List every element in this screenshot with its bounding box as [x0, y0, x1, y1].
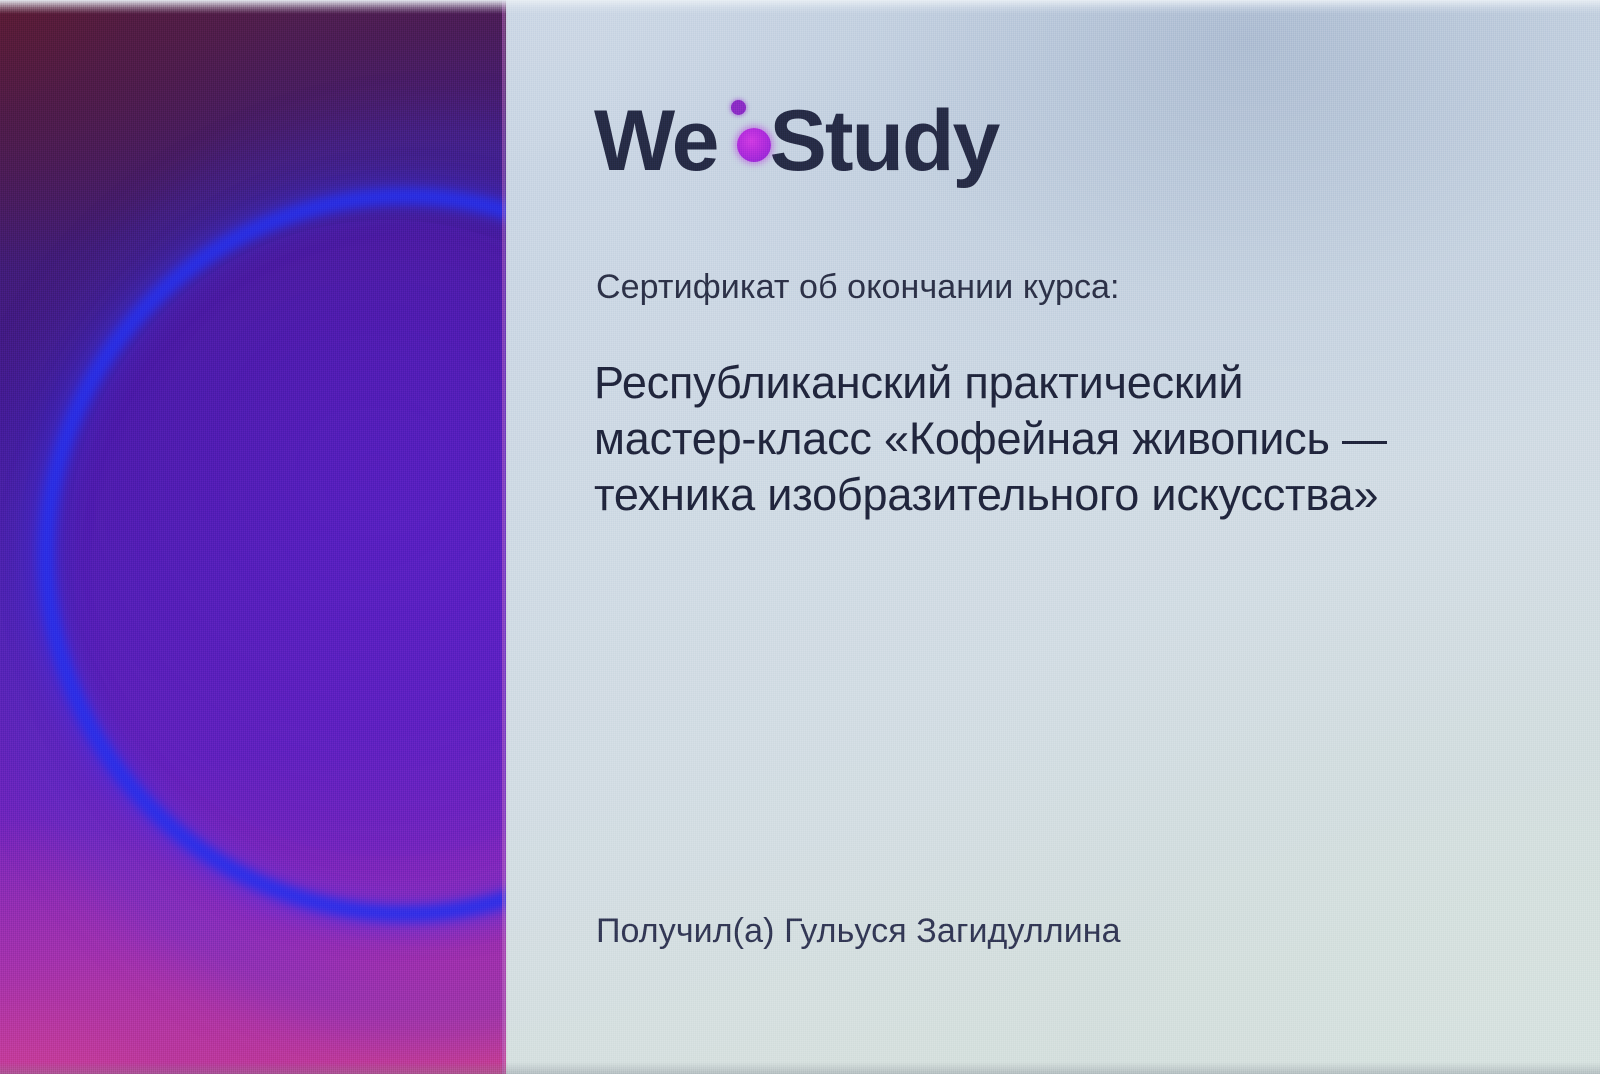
westudy-logo: We Study	[594, 84, 998, 184]
course-title-line-1: Республиканский практический	[594, 355, 1494, 411]
certificate-screen: We Study Сертификат об окончании курса: …	[0, 0, 1600, 1074]
course-title-line-2: мастер-класс «Кофейная живопись —	[594, 411, 1494, 467]
logo-dot-small-icon	[731, 100, 746, 115]
certificate-subtitle-label: Сертификат об окончании курса:	[596, 268, 1120, 307]
artwork-panel	[0, 0, 506, 1074]
logo-word-study: Study	[769, 98, 998, 184]
recipient-line: Получил(а) Гульуся Загидуллина	[596, 912, 1121, 951]
logo-dot-group	[717, 84, 769, 170]
course-title-line-3: техника изобразительного искусства»	[594, 467, 1494, 523]
logo-dot-large-icon	[737, 128, 771, 162]
artwork-gradient	[0, 0, 506, 1074]
course-title: Республиканский практический мастер-клас…	[594, 355, 1494, 523]
logo-word-we: We	[594, 98, 717, 184]
